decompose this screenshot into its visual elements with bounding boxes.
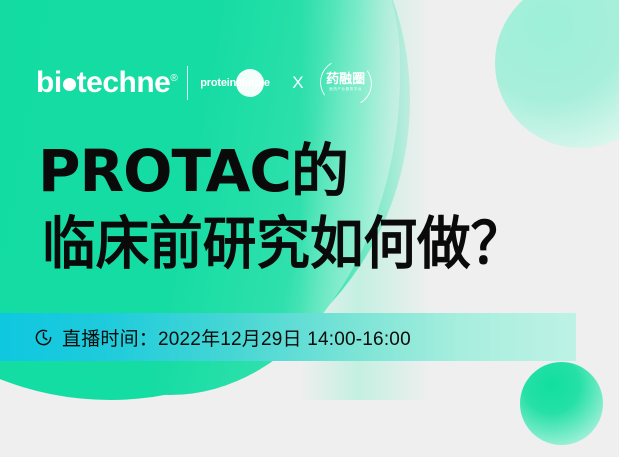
logo-proteinsimple: proteinsimple xyxy=(200,66,278,100)
logo-partner-subtitle: 医药产业服务平台 xyxy=(318,88,374,92)
dot-separator-icon xyxy=(63,78,76,91)
headline-line-1: PROTAC的 xyxy=(38,142,608,201)
schedule-bar: 直播时间：2022年12月29日 14:00-16:00 xyxy=(0,313,576,361)
decorative-circle-top-right xyxy=(495,0,619,148)
clock-icon xyxy=(34,328,53,347)
logo-partner-characters: 药融圈 xyxy=(318,72,374,85)
promotional-banner: bitechne® proteinsimple X 药融圈 医药产业服务平台 P… xyxy=(0,0,619,457)
logo-bio-techne-text-after: techne xyxy=(77,66,171,99)
logo-bio-techne-text-before: bi xyxy=(36,66,62,99)
headline: PROTAC的 临床前研究如何做？ xyxy=(38,142,608,275)
headline-line-2: 临床前研究如何做？ xyxy=(42,215,574,275)
logo-bio-techne: bitechne® xyxy=(36,68,177,98)
logo-partner-yaorongquan: 药融圈 医药产业服务平台 xyxy=(318,57,374,109)
trademark-symbol: ® xyxy=(170,73,177,84)
decorative-circle-bottom-right xyxy=(520,362,603,445)
schedule-text: 直播时间：2022年12月29日 14:00-16:00 xyxy=(62,324,411,351)
logo-row: bitechne® proteinsimple X 药融圈 医药产业服务平台 xyxy=(36,58,374,108)
logo-divider xyxy=(187,66,188,100)
logo-separator-x: X xyxy=(292,73,303,93)
white-circle-mark-icon xyxy=(236,69,264,97)
